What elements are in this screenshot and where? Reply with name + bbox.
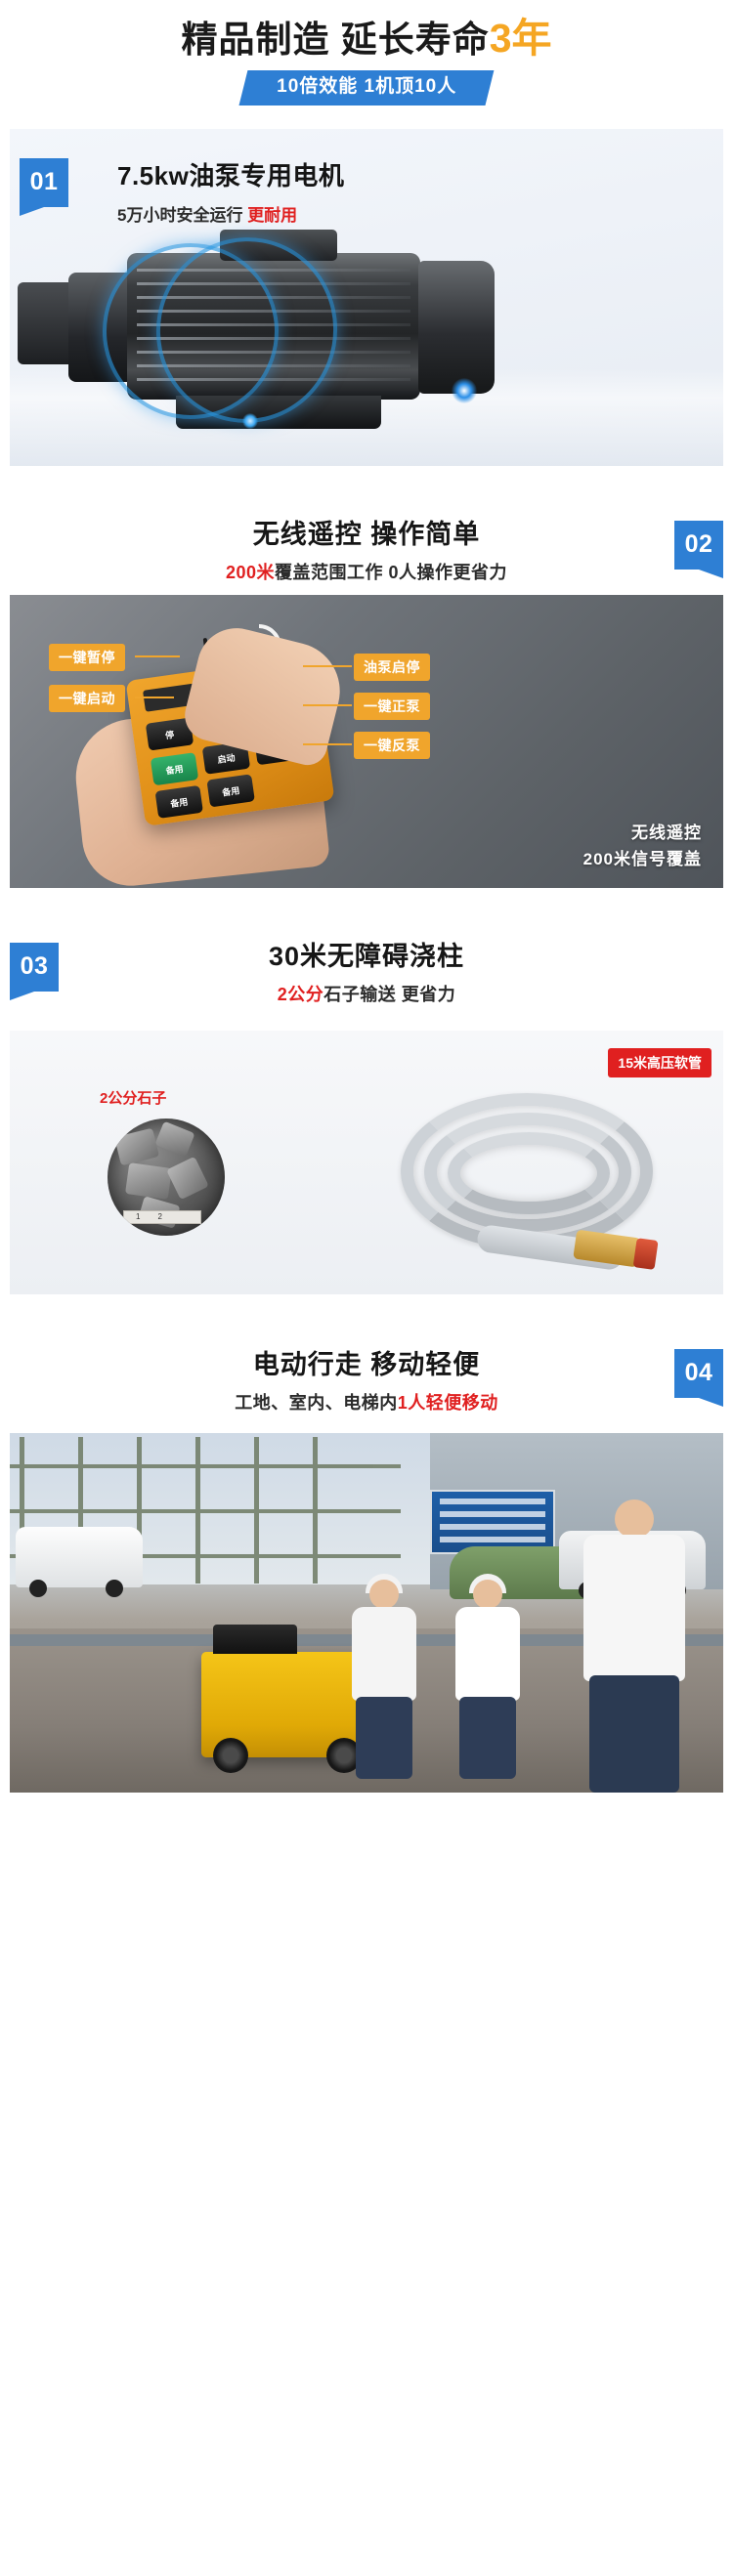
- remote-button-2[interactable]: 备用: [151, 752, 198, 785]
- worker-2-torso: [455, 1607, 520, 1701]
- section-02-remote: 02 无线遥控 操作简单 200米覆盖范围工作 0人操作更省力 停 油泵1 备: [0, 501, 733, 888]
- section-04-image: [10, 1433, 723, 1793]
- callout-leader-1: [135, 697, 174, 698]
- section-04-badge-label: 04: [685, 1359, 713, 1387]
- section-02-subtitle-accent: 200米: [226, 563, 275, 582]
- section-01-text-block: 7.5kw油泵专用电机 5万小时安全运行 更耐用: [117, 156, 344, 226]
- section-01-badge-label: 01: [30, 168, 59, 196]
- header-banner-wrap: 10倍效能 1机顶10人: [0, 70, 733, 106]
- worker-3: [581, 1499, 688, 1793]
- led-glow-icon: [452, 378, 477, 403]
- callout-pause-label: 一键暂停: [59, 650, 115, 665]
- remote-button-6[interactable]: 备用: [155, 785, 203, 819]
- airflow-glow-icon: [242, 413, 258, 429]
- section-02-badge-label: 02: [685, 530, 713, 559]
- callout-forward-pump-label: 一键正泵: [364, 698, 420, 714]
- callout-pump-toggle-label: 油泵启停: [364, 659, 420, 675]
- section-04-titles: 电动行走 移动轻便 工地、室内、电梯内1人轻便移动: [0, 1349, 733, 1415]
- section-03-subtitle-normal: 石子输送 更省力: [323, 985, 455, 1004]
- hose-length-label: 15米高压软管: [608, 1048, 711, 1077]
- page-title: 精品制造 延长寿命3年: [0, 14, 733, 63]
- hose-coil-illustration: [383, 1087, 706, 1273]
- footnote-line-1: 无线遥控: [583, 820, 702, 846]
- section-02-footnote: 无线遥控 200米信号覆盖: [583, 820, 702, 872]
- callout-leader-2: [303, 665, 352, 667]
- worker-3-torso: [583, 1535, 685, 1681]
- section-03-badge-label: 03: [21, 952, 49, 981]
- worker-1: [348, 1580, 420, 1775]
- section-01-badge: 01: [20, 158, 68, 207]
- section-04-badge: 04: [674, 1349, 723, 1398]
- section-02-badge: 02: [674, 521, 723, 570]
- callout-start-label: 一键启动: [59, 691, 115, 706]
- callout-pump-toggle: 油泵启停: [354, 654, 430, 681]
- callout-leader-0: [135, 655, 180, 657]
- page-title-main: 精品制造 延长寿命: [181, 20, 489, 60]
- stone-ruler: 1 2: [123, 1210, 201, 1224]
- section-02-subtitle-normal: 覆盖范围工作 0人操作更省力: [275, 563, 507, 582]
- section-01-image: 01 7.5kw油泵专用电机 5万小时安全运行 更耐用: [10, 129, 723, 466]
- section-03-hose: 03 30米无障碍浇柱 2公分石子输送 更省力 2公分石子 1 2: [0, 927, 733, 1294]
- section-04-mobility: 04 电动行走 移动轻便 工地、室内、电梯内1人轻便移动: [0, 1335, 733, 1793]
- worker-3-head: [615, 1499, 654, 1539]
- section-03-title: 30米无障碍浇柱: [0, 941, 733, 974]
- section-01-motor: 01 7.5kw油泵专用电机 5万小时安全运行 更耐用: [0, 129, 733, 466]
- section-04-title: 电动行走 移动轻便: [0, 1349, 733, 1382]
- worker-1-head: [369, 1580, 399, 1609]
- section-02-image: 停 油泵1 备用 启动 反泵1 正泵 备用 备用 一键暂停 一键启动: [10, 595, 723, 888]
- section-04-subtitle: 工地、室内、电梯内1人轻便移动: [0, 1389, 733, 1415]
- worker-1-torso: [352, 1607, 416, 1701]
- section-01-title: 7.5kw油泵专用电机: [117, 156, 344, 192]
- callout-reverse-pump: 一键反泵: [354, 732, 430, 759]
- ruler-mark-1: 1: [136, 1212, 140, 1221]
- page-title-accent: 3年: [490, 16, 552, 61]
- section-03-subtitle: 2公分石子输送 更省力: [0, 981, 733, 1006]
- callout-start: 一键启动: [49, 685, 125, 712]
- callout-reverse-pump-label: 一键反泵: [364, 738, 420, 753]
- remote-button-7[interactable]: 备用: [206, 774, 254, 807]
- header-banner-label: 10倍效能 1机顶10人: [277, 75, 456, 100]
- motor-end-cap-right: [418, 261, 495, 394]
- worker-3-legs: [589, 1675, 679, 1793]
- worker-2-head: [473, 1580, 502, 1609]
- section-03-badge: 03: [10, 943, 59, 992]
- callout-leader-3: [303, 704, 352, 706]
- site-signboard: [430, 1490, 555, 1554]
- ruler-mark-2: 2: [157, 1212, 161, 1221]
- callout-pause: 一键暂停: [49, 644, 125, 671]
- worker-1-legs: [356, 1697, 412, 1779]
- section-04-subtitle-normal: 工地、室内、电梯内: [235, 1393, 398, 1413]
- callout-leader-4: [303, 743, 352, 745]
- machine-wheel-left: [213, 1738, 248, 1773]
- section-02-head: 02 无线遥控 操作简单 200米覆盖范围工作 0人操作更省力: [0, 501, 733, 595]
- stone-size-label: 2公分石子: [100, 1087, 166, 1108]
- white-van: [16, 1527, 143, 1587]
- section-04-subtitle-accent: 1人轻便移动: [398, 1393, 498, 1413]
- section-02-title: 无线遥控 操作简单: [0, 519, 733, 552]
- footnote-line-2: 200米信号覆盖: [583, 846, 702, 872]
- product-detail-page: 精品制造 延长寿命3年 10倍效能 1机顶10人 01 7.5kw油泵专用电机 …: [0, 0, 733, 2576]
- worker-2-legs: [459, 1697, 516, 1779]
- section-02-subtitle: 200米覆盖范围工作 0人操作更省力: [0, 559, 733, 584]
- section-03-titles: 30米无障碍浇柱 2公分石子输送 更省力: [0, 941, 733, 1006]
- motor-illustration: [10, 222, 723, 466]
- worker-2: [452, 1580, 524, 1775]
- section-04-head: 04 电动行走 移动轻便 工地、室内、电梯内1人轻便移动: [0, 1335, 733, 1433]
- section-03-head: 03 30米无障碍浇柱 2公分石子输送 更省力: [0, 927, 733, 1031]
- callout-forward-pump: 一键正泵: [354, 693, 430, 720]
- section-03-image: 2公分石子 1 2 15米高压软管: [10, 1031, 723, 1294]
- section-03-subtitle-accent: 2公分: [278, 985, 324, 1004]
- page-header: 精品制造 延长寿命3年 10倍效能 1机顶10人: [0, 0, 733, 106]
- header-banner: 10倍效能 1机顶10人: [238, 70, 494, 106]
- section-02-titles: 无线遥控 操作简单 200米覆盖范围工作 0人操作更省力: [0, 519, 733, 584]
- stone-photo: 1 2: [108, 1119, 225, 1236]
